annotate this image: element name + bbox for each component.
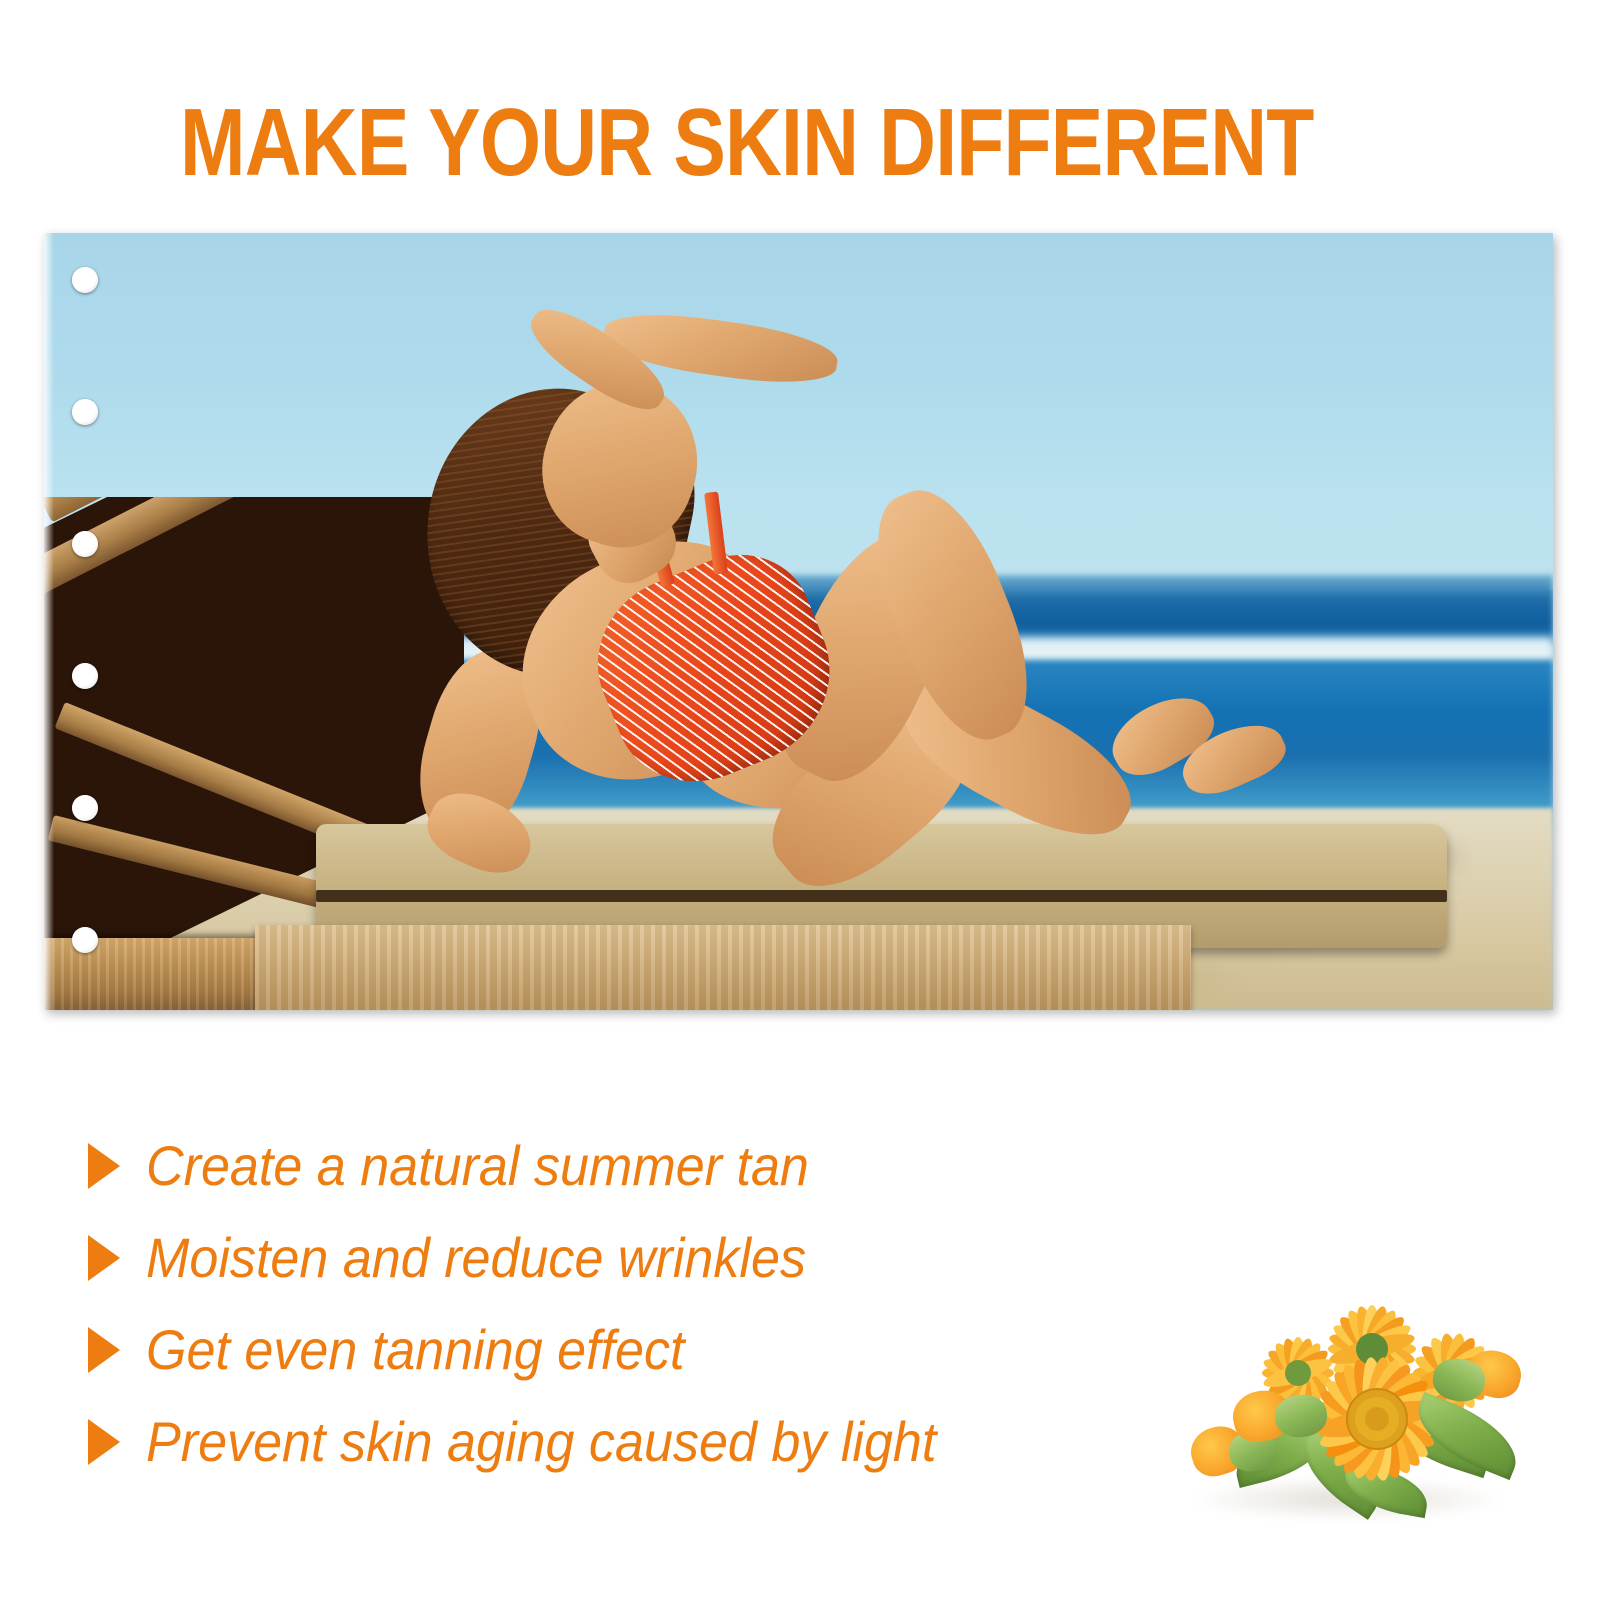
punch-hole bbox=[72, 399, 98, 425]
list-item: Create a natural summer tan bbox=[88, 1120, 1148, 1212]
benefit-label: Prevent skin aging caused by light bbox=[146, 1413, 936, 1471]
punch-hole bbox=[72, 531, 98, 557]
triangle-right-icon bbox=[88, 1419, 120, 1465]
hero-photo bbox=[44, 233, 1553, 1010]
triangle-right-icon bbox=[88, 1327, 120, 1373]
page-title: MAKE YOUR SKIN DIFFERENT bbox=[180, 95, 1205, 191]
model-figure bbox=[285, 280, 1462, 964]
triangle-right-icon bbox=[88, 1143, 120, 1189]
advertisement-page: MAKE YOUR SKIN DIFFERENT bbox=[0, 0, 1600, 1600]
list-item: Moisten and reduce wrinkles bbox=[88, 1212, 1148, 1304]
benefit-label: Get even tanning effect bbox=[146, 1321, 685, 1379]
hero-photo-scene bbox=[44, 233, 1553, 1010]
punch-hole bbox=[72, 267, 98, 293]
list-item: Prevent skin aging caused by light bbox=[88, 1396, 1148, 1488]
triangle-right-icon bbox=[88, 1235, 120, 1281]
benefit-label: Create a natural summer tan bbox=[146, 1137, 809, 1195]
punch-hole bbox=[72, 795, 98, 821]
benefits-list: Create a natural summer tan Moisten and … bbox=[88, 1120, 1148, 1488]
paper-sheen bbox=[44, 233, 54, 1010]
benefit-label: Moisten and reduce wrinkles bbox=[146, 1229, 806, 1287]
punch-hole bbox=[72, 663, 98, 689]
calendula-flower-cluster bbox=[1175, 1255, 1545, 1555]
punch-hole bbox=[72, 927, 98, 953]
list-item: Get even tanning effect bbox=[88, 1304, 1148, 1396]
